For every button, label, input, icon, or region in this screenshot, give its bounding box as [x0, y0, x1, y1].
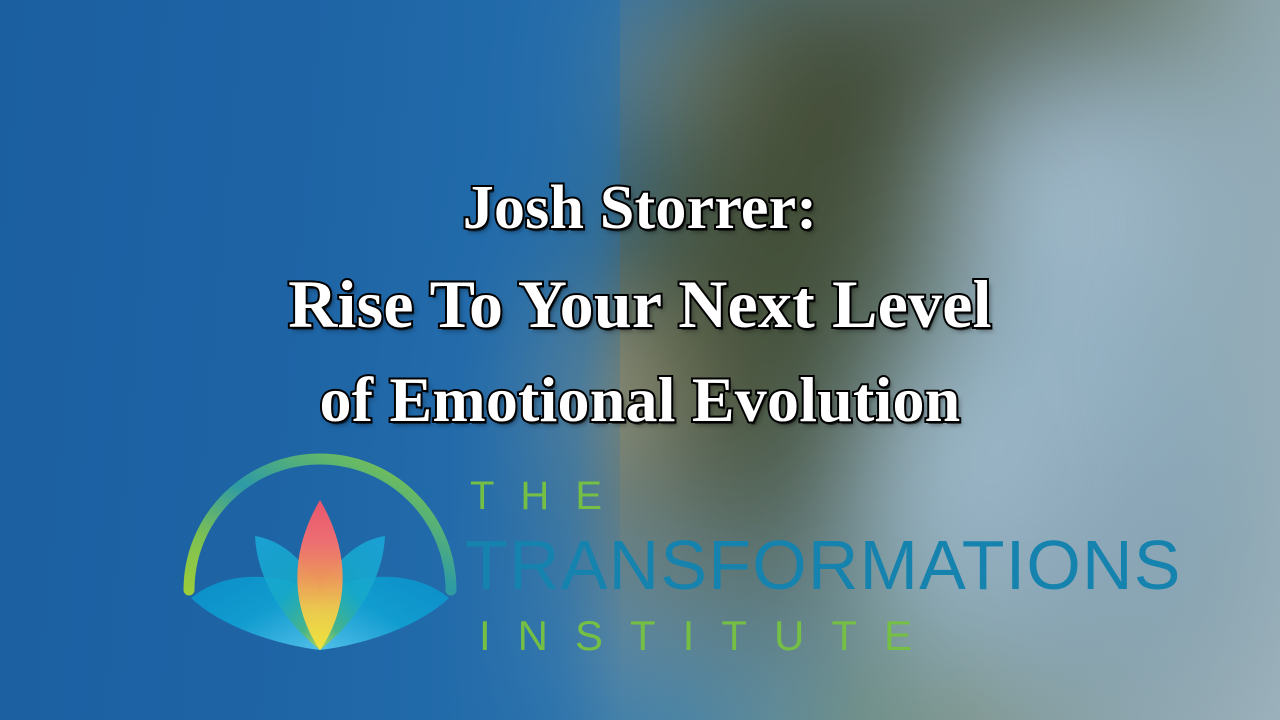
headline-line-2: Rise To Your Next Level: [0, 256, 1280, 352]
title-headline: Josh Storrer: Rise To Your Next Level of…: [0, 160, 1280, 448]
headline-line-1: Josh Storrer:: [0, 160, 1280, 256]
brand-wordmark: THE TRANSFORMATIONS INSTITUTE: [467, 476, 1137, 676]
wordmark-transformations: TRANSFORMATIONS: [465, 530, 1137, 600]
wordmark-institute: INSTITUTE: [479, 615, 1137, 657]
lotus-icon: [175, 432, 465, 664]
brand-logo: THE TRANSFORMATIONS INSTITUTE: [175, 432, 1135, 664]
wordmark-the: THE: [470, 476, 1137, 516]
title-card-slide: Josh Storrer: Rise To Your Next Level of…: [0, 0, 1280, 720]
